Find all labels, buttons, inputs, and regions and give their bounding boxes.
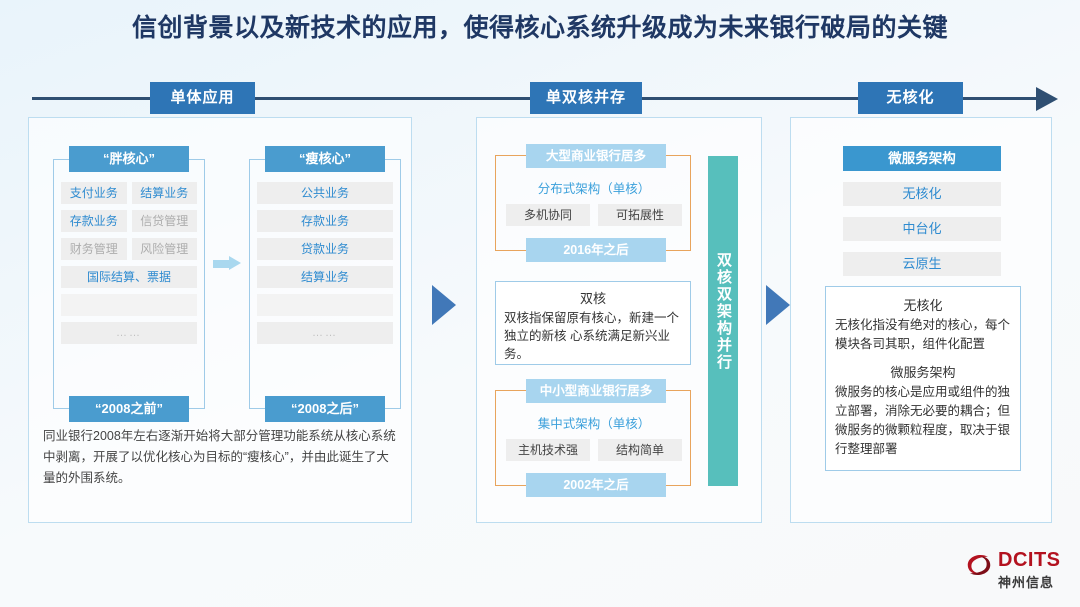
chip-credit-mgmt[interactable]: 信贷管理	[132, 210, 198, 232]
fat-core-caption: “胖核心”	[69, 146, 189, 172]
arch-top-footer: 2016年之后	[526, 238, 666, 262]
chip-loan-business[interactable]: 贷款业务	[257, 238, 393, 260]
fat-core-footer: “2008之前”	[69, 396, 189, 422]
chip-row	[257, 294, 393, 316]
chip-deposit-business[interactable]: 存款业务	[257, 210, 393, 232]
timeline: 单体应用 单双核并存 无核化	[0, 82, 1080, 116]
arch-bottom-tags: 主机技术强 结构简单	[506, 439, 682, 461]
stack-item-coreless[interactable]: 无核化	[843, 182, 1001, 206]
panel1-note-text: 同业银行2008年左右逐渐开始将大部分管理功能系统从核心系统中剥离，开展了以优化…	[43, 426, 399, 489]
chip-row: ……	[61, 322, 197, 344]
arch-bottom-caption: 中小型商业银行居多	[526, 379, 666, 403]
chip-row	[61, 294, 197, 316]
arch-bottom-subtitle: 集中式架构（单核）	[496, 413, 692, 432]
chip-row: 贷款业务	[257, 238, 393, 260]
company-logo: DCITS 神州信息	[964, 548, 1068, 594]
arch-bottom-footer: 2002年之后	[526, 473, 666, 497]
page-title: 信创背景以及新技术的应用，使得核心系统升级成为未来银行破局的关键	[0, 8, 1080, 48]
microservice-architecture-header[interactable]: 微服务架构	[843, 146, 1001, 171]
chip-row: 公共业务	[257, 182, 393, 204]
chip-blank	[257, 294, 393, 316]
stack-item-middle-platform[interactable]: 中台化	[843, 217, 1001, 241]
thin-core-footer: “2008之后”	[265, 396, 385, 422]
arrow-right-icon-2	[766, 285, 790, 325]
arrow-right-icon-1	[432, 285, 456, 325]
dual-core-title: 双核	[504, 288, 682, 307]
panel-monolithic-application: “胖核心” 支付业务 结算业务 存款业务 信贷管理 财务管理 风险管理 国际结算…	[28, 117, 412, 523]
chip-deposit[interactable]: 存款业务	[61, 210, 127, 232]
timeline-stage-2[interactable]: 无核化	[858, 82, 963, 114]
timeline-stage-0[interactable]: 单体应用	[150, 82, 255, 114]
chip-ellipsis: ……	[61, 322, 197, 344]
tag-multi-machine-collab[interactable]: 多机协同	[506, 204, 590, 226]
coreless-paragraph-1: 无核化指没有绝对的核心，每个模块各司其职，组件化配置	[835, 316, 1011, 354]
tag-simple-structure[interactable]: 结构简单	[598, 439, 682, 461]
coreless-title: 无核化	[835, 295, 1011, 314]
dual-core-parallel-label: 双核双架构并行	[708, 252, 738, 371]
dual-core-parallel-bar: 双核双架构并行	[708, 156, 738, 486]
chip-row: 结算业务	[257, 266, 393, 288]
chip-intl-settlement-bills[interactable]: 国际结算、票据	[61, 266, 197, 288]
chip-settlement[interactable]: 结算业务	[132, 182, 198, 204]
chip-row: 财务管理 风险管理	[61, 238, 197, 260]
dual-core-description-box: 双核 双核指保留原有核心，新建一个独立的新核 心系统满足新兴业务。	[495, 281, 691, 365]
architecture-centralized-block: 中小型商业银行居多 集中式架构（单核） 主机技术强 结构简单 2002年之后	[495, 390, 691, 486]
chip-public-business[interactable]: 公共业务	[257, 182, 393, 204]
chip-settlement-business[interactable]: 结算业务	[257, 266, 393, 288]
panel-coreless: 微服务架构 无核化 中台化 云原生 无核化 无核化指没有绝对的核心，每个模块各司…	[790, 117, 1052, 523]
timeline-arrow-icon	[1036, 87, 1058, 111]
dcits-swoosh-icon	[964, 550, 994, 580]
chip-row: 国际结算、票据	[61, 266, 197, 288]
chip-risk-mgmt[interactable]: 风险管理	[132, 238, 198, 260]
thin-core-caption: “瘦核心”	[265, 146, 385, 172]
logo-brand-cn-text: 神州信息	[998, 572, 1054, 591]
microservice-subtitle: 微服务架构	[835, 362, 1011, 381]
chip-row: ……	[257, 322, 393, 344]
tag-extensibility[interactable]: 可拓展性	[598, 204, 682, 226]
tag-mainframe-strength[interactable]: 主机技术强	[506, 439, 590, 461]
arch-top-subtitle: 分布式架构（单核）	[496, 178, 692, 197]
dual-core-body: 双核指保留原有核心，新建一个独立的新核 心系统满足新兴业务。	[504, 309, 682, 363]
fat-core-items: 支付业务 结算业务 存款业务 信贷管理 财务管理 风险管理 国际结算、票据 ……	[61, 182, 197, 350]
logo-brand-text: DCITS	[998, 549, 1061, 572]
chip-row: 存款业务 信贷管理	[61, 210, 197, 232]
architecture-distributed-block: 大型商业银行居多 分布式架构（单核） 多机协同 可拓展性 2016年之后	[495, 155, 691, 251]
chip-ellipsis: ……	[257, 322, 393, 344]
arch-top-tags: 多机协同 可拓展性	[506, 204, 682, 226]
microservice-stack: 微服务架构 无核化 中台化 云原生	[843, 146, 1001, 287]
timeline-stage-1[interactable]: 单双核并存	[530, 82, 642, 114]
arch-top-caption: 大型商业银行居多	[526, 144, 666, 168]
panel-single-dual-core: 大型商业银行居多 分布式架构（单核） 多机协同 可拓展性 2016年之后 双核 …	[476, 117, 762, 523]
chip-finance-mgmt[interactable]: 财务管理	[61, 238, 127, 260]
chip-payment[interactable]: 支付业务	[61, 182, 127, 204]
stack-item-cloud-native[interactable]: 云原生	[843, 252, 1001, 276]
chip-blank	[61, 294, 197, 316]
core-transition-arrow-icon	[213, 256, 241, 270]
chip-row: 支付业务 结算业务	[61, 182, 197, 204]
coreless-description-box: 无核化 无核化指没有绝对的核心，每个模块各司其职，组件化配置 微服务架构 微服务…	[825, 286, 1021, 471]
coreless-paragraph-2: 微服务的核心是应用或组件的独立部署，消除无必要的耦合；但微服务的微颗粒程度，取决…	[835, 383, 1011, 459]
chip-row: 存款业务	[257, 210, 393, 232]
thin-core-items: 公共业务 存款业务 贷款业务 结算业务 ……	[257, 182, 393, 350]
